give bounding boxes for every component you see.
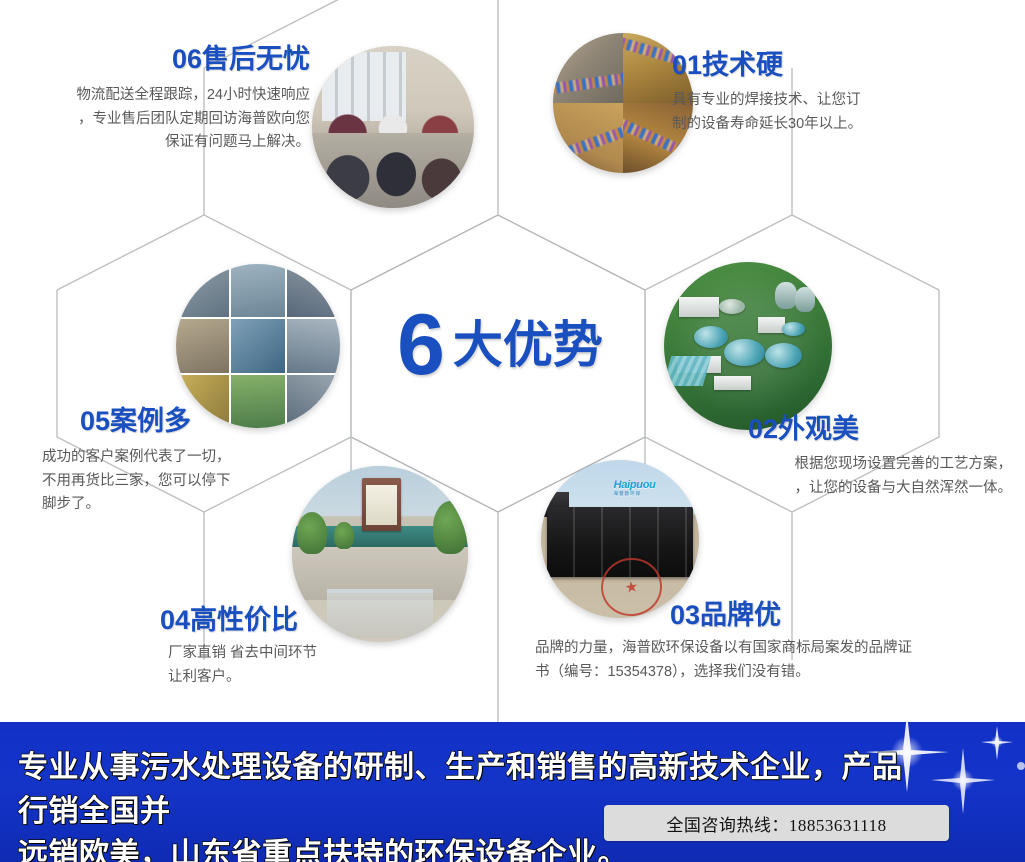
feature-01-heading: 01技术硬	[672, 50, 1002, 81]
feature-04-body: 厂家直销 省去中间环节 让利客户。	[108, 642, 428, 689]
weld-cell-3	[553, 103, 623, 173]
factory-signboard	[362, 478, 401, 531]
stamp-star-icon: ★	[624, 577, 640, 597]
feature-04-heading: 04高性价比	[108, 605, 428, 636]
feature-03: 03品牌优 品牌的力量，海普欧环保设备以有国家商标局案发的品牌证 书（编号：15…	[535, 600, 1020, 684]
feature-06-heading: 06售后无忧	[10, 44, 310, 75]
feature-01: 01技术硬 具有专业的焊接技术、让您订 制的设备寿命延长30年以上。	[672, 50, 1002, 136]
feature-04: 04高性价比 厂家直销 省去中间环节 让利客户。	[108, 605, 428, 689]
feature-02: 02外观美 根据您现场设置完善的工艺方案， ，让您的设备与大自然浑然一体。	[690, 414, 1012, 500]
feature-03-heading: 03品牌优	[535, 600, 1020, 631]
case-collage-photo	[176, 264, 340, 428]
feature-03-body: 品牌的力量，海普欧环保设备以有国家商标局案发的品牌证 书（编号：15354378…	[535, 637, 1020, 684]
office-staff-photo	[312, 46, 474, 208]
hotline-box[interactable]: 全国咨询热线：18853631118	[604, 805, 949, 841]
feature-02-image	[664, 262, 832, 430]
haipuou-logo-brand: Haipuou	[614, 479, 656, 491]
office-people	[312, 108, 474, 173]
feature-06-body: 物流配送全程跟踪，24小时快速响应 ，专业售后团队定期回访海普欧向您 保证有问题…	[10, 84, 310, 154]
center-number: 6	[397, 302, 443, 388]
aerial-treatment-plant-photo	[664, 262, 832, 430]
feature-05: 05案例多 成功的客户案例代表了一切， 不用再货比三家，您可以停下 脚步了。	[34, 406, 334, 517]
case-cell-5	[231, 319, 284, 372]
feature-01-body: 具有专业的焊接技术、让您订 制的设备寿命延长30年以上。	[672, 89, 1002, 136]
feature-03-image: Haipuou 海普欧环保 ★	[541, 460, 699, 618]
black-equipment-trademark-photo: Haipuou 海普欧环保 ★	[541, 460, 699, 618]
center-text: 大优势	[453, 320, 603, 370]
infographic-root: 6 大优势 06售后无忧 物流配送全程跟踪，24小时快速响应 ，专业售后团队定期…	[0, 0, 1025, 862]
weld-cell-1	[553, 33, 623, 103]
haipuou-logo: Haipuou 海普欧环保	[614, 479, 656, 497]
case-cell-1	[176, 264, 229, 317]
center-label: 6 大优势	[350, 290, 650, 400]
case-cell-4	[176, 319, 229, 372]
feature-05-body: 成功的客户案例代表了一切， 不用再货比三家，您可以停下 脚步了。	[34, 446, 334, 516]
feature-02-heading: 02外观美	[690, 414, 1012, 445]
feature-02-body: 根据您现场设置完善的工艺方案， ，让您的设备与大自然浑然一体。	[690, 453, 1012, 500]
haipuou-logo-sub: 海普欧环保	[614, 491, 656, 497]
hotline-text: 全国咨询热线：18853631118	[666, 811, 886, 836]
banner-text: 专业从事污水处理设备的研制、生产和销售的高新技术企业，产品行销全国并 远销欧美，…	[18, 746, 918, 862]
case-cell-3	[287, 264, 340, 317]
case-cell-6	[287, 319, 340, 372]
feature-06: 06售后无忧 物流配送全程跟踪，24小时快速响应 ，专业售后团队定期回访海普欧向…	[10, 44, 310, 155]
feature-05-heading: 05案例多	[34, 406, 334, 437]
feature-05-image	[176, 264, 340, 428]
case-cell-2	[231, 264, 284, 317]
feature-06-image	[312, 46, 474, 208]
bottom-banner: 专业从事污水处理设备的研制、生产和销售的高新技术企业，产品行销全国并 远销欧美，…	[0, 722, 1025, 862]
